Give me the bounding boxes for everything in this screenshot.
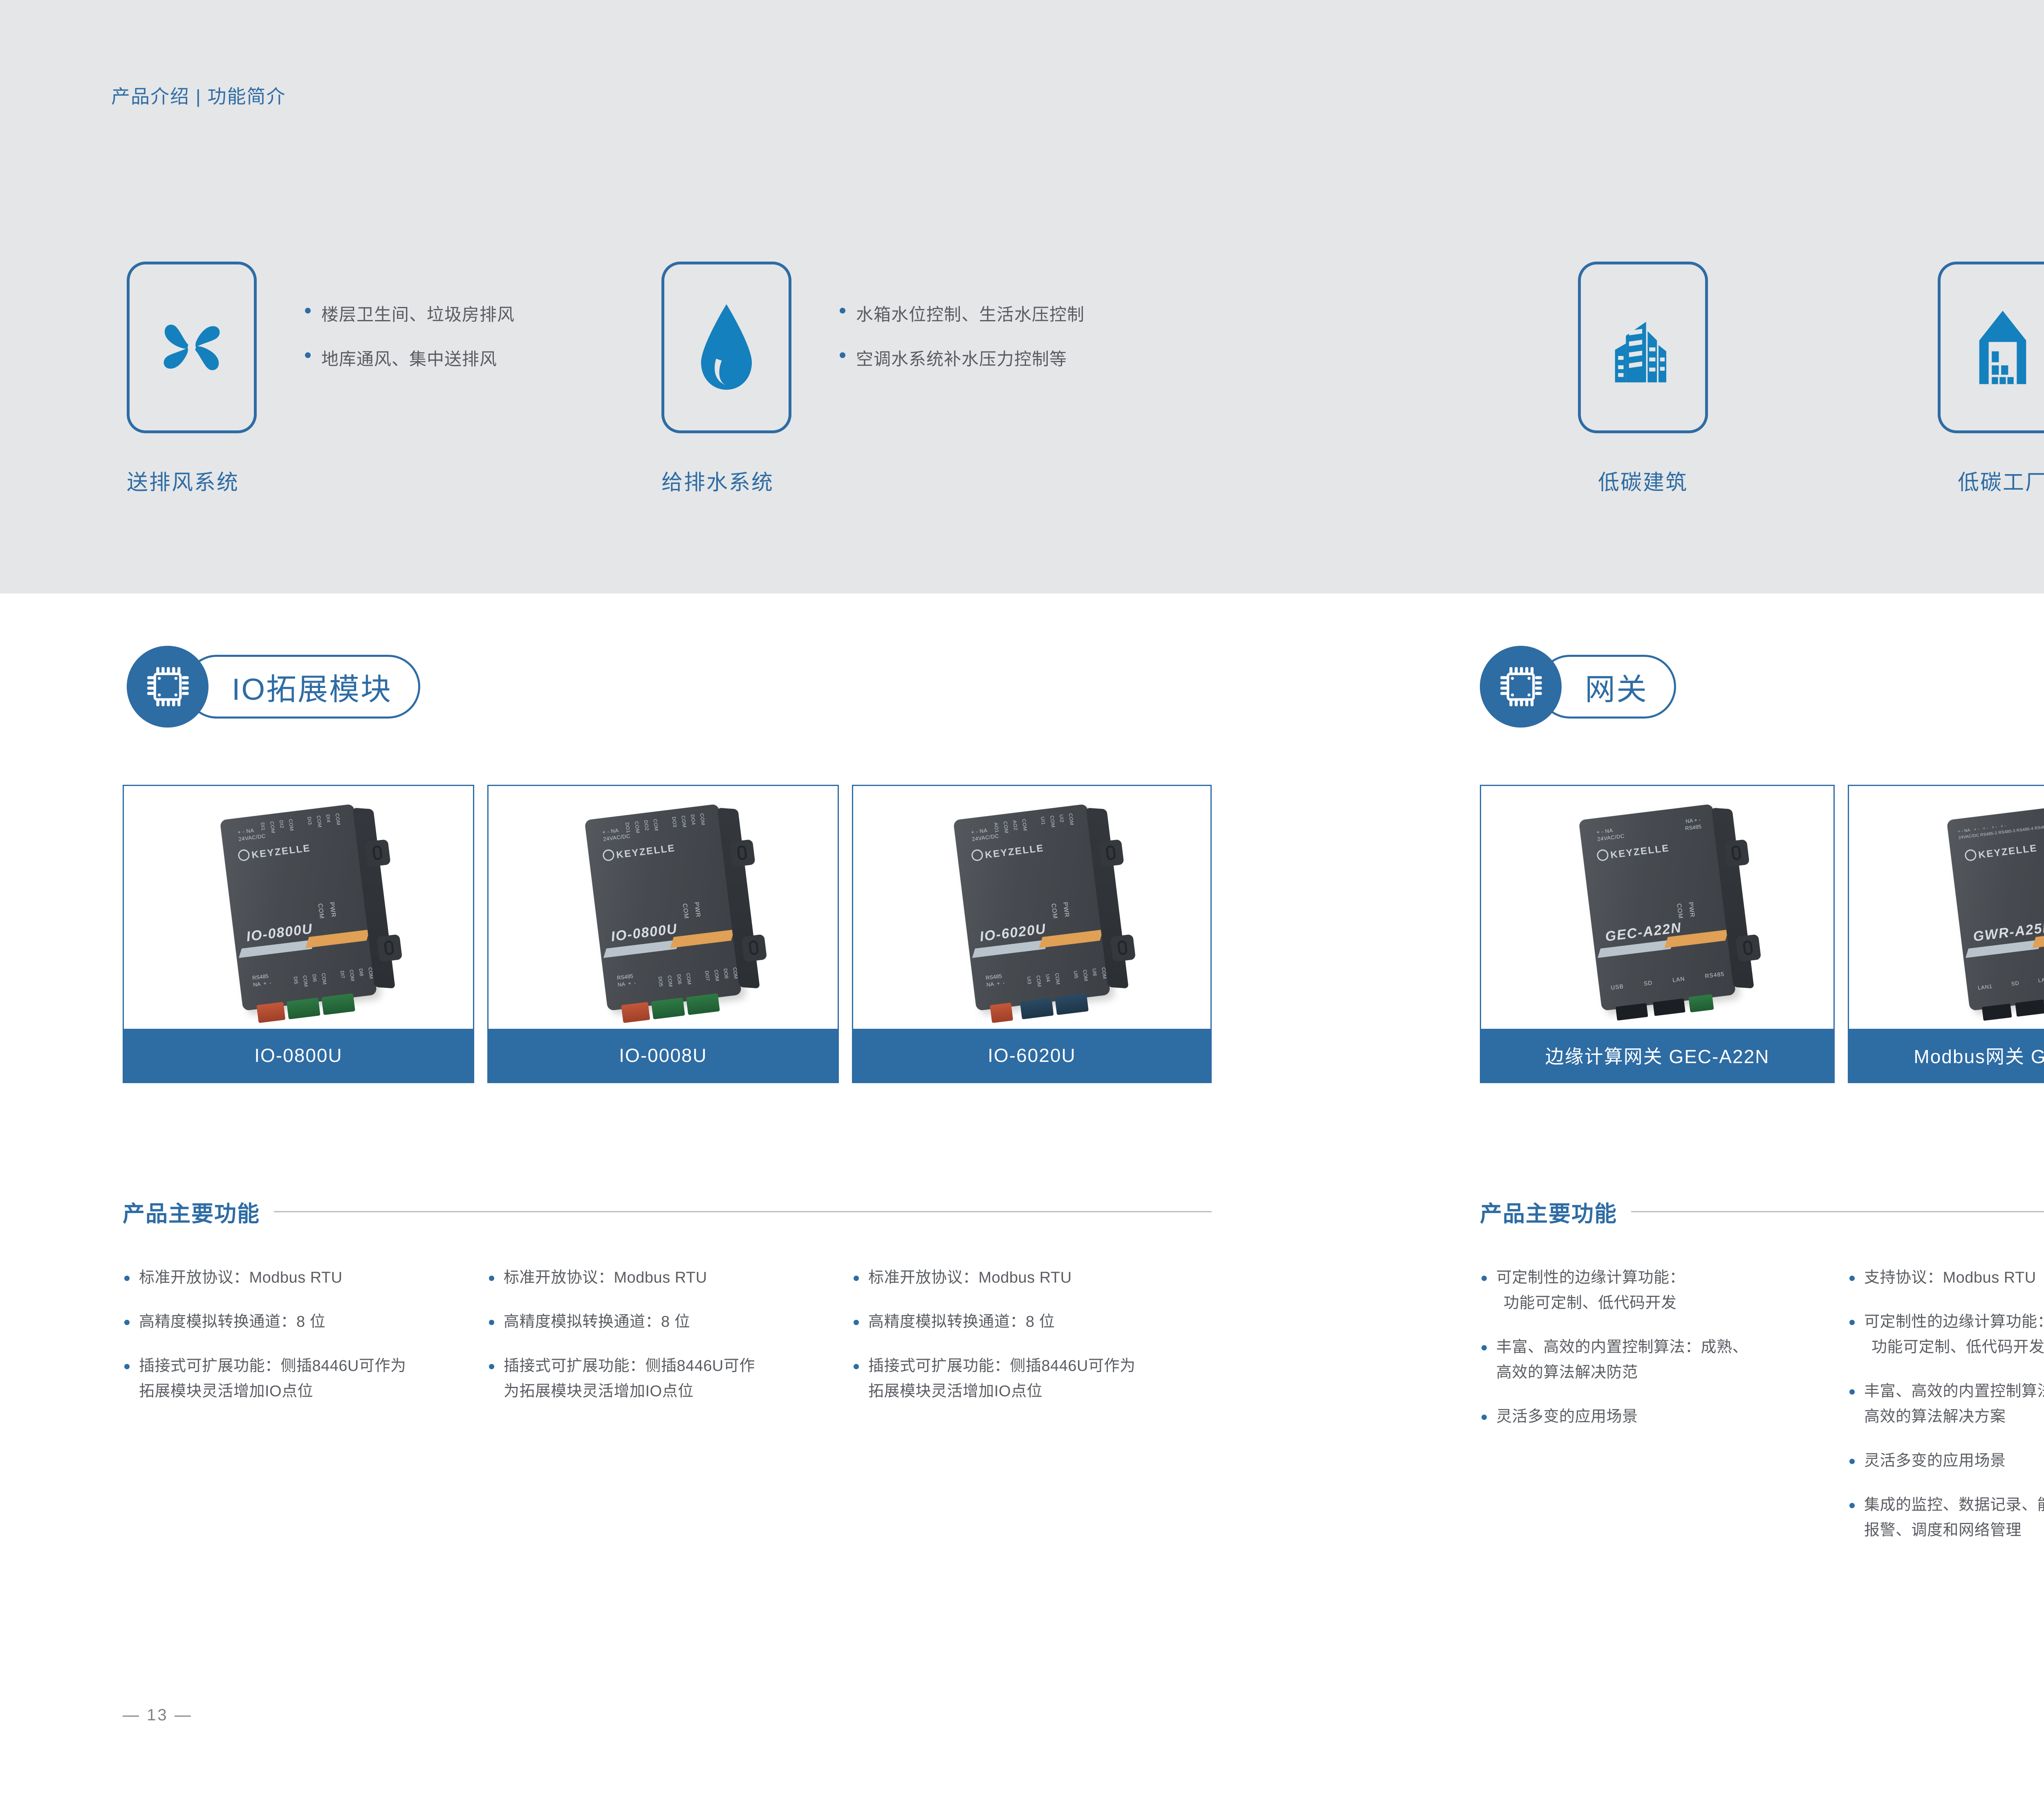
scenario-caption: 低碳工厂 <box>1938 465 2044 496</box>
feature-column: 标准开放协议：Modbus RTU 高精度模拟转换通道：8 位 插接式可扩展功能… <box>487 1265 847 1423</box>
feature-item: 丰富、高效的内置控制算法：成熟、高效的算法解决防范 <box>1480 1335 1831 1385</box>
feature-list: 标准开放协议：Modbus RTU 高精度模拟转换通道：8 位 插接式可扩展功能… <box>487 1265 847 1404</box>
product-photo: + - NA24VAC/DC DI1COMDI2COMDI3COMDI4COM … <box>124 786 473 1029</box>
device-brand: KEYZELLE <box>238 841 312 863</box>
feature-list: 标准开放协议：Modbus RTU 高精度模拟转换通道：8 位 插接式可扩展功能… <box>123 1265 482 1404</box>
feature-column: 支持协议：Modbus RTU 可定制性的边缘计算功能：功能可定制、低代码开发 … <box>1848 1265 2044 1562</box>
product-label: IO-6020U <box>853 1029 1210 1082</box>
device-top-text: + - NA + - + - + - + -24VAC/DC RS485-2 R… <box>1957 815 2044 841</box>
product-label: Modbus网关 GWR-A25N <box>1849 1029 2044 1082</box>
feature-item: 标准开放协议：Modbus RTU <box>487 1265 847 1290</box>
device-brand: KEYZELLE <box>1964 841 2038 863</box>
device-leds: COMPWR <box>2038 902 2044 922</box>
chip-icon-circle <box>1480 646 1562 728</box>
feature-item: 插接式可扩展功能：侧插8446U可作为拓展模块灵活增加IO点位 <box>487 1353 847 1404</box>
fan-icon-box <box>127 262 257 433</box>
bullet-item: 水箱水位控制、生活水压控制 <box>837 301 1085 326</box>
feature-item: 高精度模拟转换通道：8 位 <box>487 1309 847 1335</box>
application-caption: 给排水系统 <box>661 465 791 496</box>
feature-column: 标准开放协议：Modbus RTU 高精度模拟转换通道：8 位 插接式可扩展功能… <box>852 1265 1220 1423</box>
top-gray-band <box>0 0 2044 593</box>
fan-icon <box>151 307 233 388</box>
device-leds: COMPWR <box>1670 902 1696 922</box>
product-label: 边缘计算网关 GEC-A22N <box>1481 1029 1833 1082</box>
feature-column: 可定制性的边缘计算功能：功能可定制、低代码开发 丰富、高效的内置控制算法：成熟、… <box>1480 1265 1831 1448</box>
application-caption: 送排风系统 <box>127 465 257 496</box>
features-heading-right: 产品主要功能 <box>1480 1196 2044 1228</box>
office-building-icon-box <box>1578 262 1708 433</box>
feature-item: 集成的监控、数据记录、能耗计量、报警、调度和网络管理 <box>1848 1492 2044 1543</box>
feature-item: 高精度模拟转换通道：8 位 <box>123 1309 482 1335</box>
device-top-text: + - NA24VAC/DC <box>1596 826 1625 843</box>
feature-item: 丰富、高效的内置控制算法：成熟、高效的算法解决方案 <box>1848 1379 2044 1429</box>
heading-rule <box>274 1211 1212 1212</box>
bullet-item: 楼层卫生间、垃圾房排风 <box>303 301 515 326</box>
device-brand: KEYZELLE <box>602 841 676 863</box>
product-card[interactable]: + - NA24VAC/DC AO1COMAO2COMUI1COMUI2COM … <box>852 785 1212 1083</box>
device-top-pins: DO1COMDO2COMDO3COMDO4COM <box>624 813 706 835</box>
product-photo: + - NA24VAC/DC NA + -RS485 KEYZELLE COMP… <box>1481 786 1833 1029</box>
device-top-right-text: NA + -RS485 <box>1684 816 1702 832</box>
factory-icon <box>1970 305 2035 390</box>
feature-list: 标准开放协议：Modbus RTU 高精度模拟转换通道：8 位 插接式可扩展功能… <box>852 1265 1220 1404</box>
feature-item: 可定制性的边缘计算功能：功能可定制、低代码开发 <box>1480 1265 1831 1316</box>
product-card[interactable]: + - NA24VAC/DC DI1COMDI2COMDI3COMDI4COM … <box>123 785 474 1083</box>
features-title: 产品主要功能 <box>123 1196 260 1228</box>
application-ventilation: 送排风系统 楼层卫生间、垃圾房排风 地库通风、集中送排风 <box>127 262 257 496</box>
features-heading-left: 产品主要功能 <box>123 1196 1212 1228</box>
scenario-low-carbon-factory: 低碳工厂 <box>1938 262 2044 496</box>
feature-item: 标准开放协议：Modbus RTU <box>123 1265 482 1290</box>
feature-list: 支持协议：Modbus RTU 可定制性的边缘计算功能：功能可定制、低代码开发 … <box>1848 1265 2044 1543</box>
feature-item: 灵活多变的应用场景 <box>1848 1448 2044 1473</box>
device-top-pins: AO1COMAO2COMUI1COMUI2COM <box>993 813 1075 835</box>
product-label: IO-0008U <box>489 1029 838 1082</box>
product-card[interactable]: + - NA24VAC/DC NA + -RS485 KEYZELLE COMP… <box>1480 785 1835 1083</box>
device-bottom-ports: USBSDLANRS485 <box>1610 970 1725 991</box>
chip-icon <box>143 663 192 711</box>
device-bottom-text: RS485NA + - <box>252 972 271 988</box>
product-photo: + - NA24VAC/DC AO1COMAO2COMUI1COMUI2COM … <box>853 786 1210 1029</box>
running-head-left: 产品介绍 | 功能简介 <box>111 82 286 109</box>
product-photo: + - NA24VAC/DC DO1COMDO2COMDO3COMDO4COM … <box>489 786 838 1029</box>
device-top-pins: DI1COMDI2COMDI3COMDI4COM <box>260 813 341 835</box>
device-brand: KEYZELLE <box>971 841 1045 863</box>
device-illustration: + - NA24VAC/DC NA + -RS485 KEYZELLE COMP… <box>1579 804 1736 1011</box>
features-title: 产品主要功能 <box>1480 1196 1617 1228</box>
device-bottom-text: RS485NA + - <box>985 972 1005 988</box>
device-leds: COMPWR <box>1045 902 1071 922</box>
heading-rule <box>1631 1211 2044 1212</box>
application-water-supply: 给排水系统 水箱水位控制、生活水压控制 空调水系统补水压力控制等 <box>661 262 791 496</box>
feature-item: 可定制性的边缘计算功能：功能可定制、低代码开发 <box>1848 1309 2044 1360</box>
product-card[interactable]: + - NA + - + - + - + -24VAC/DC RS485-2 R… <box>1848 785 2044 1083</box>
bullet-item: 空调水系统补水压力控制等 <box>837 345 1085 370</box>
water-drop-icon-box <box>661 262 791 433</box>
water-bullets: 水箱水位控制、生活水压控制 空调水系统补水压力控制等 <box>837 301 1085 390</box>
device-illustration: + - NA24VAC/DC DO1COMDO2COMDO3COMDO4COM … <box>585 804 742 1011</box>
feature-item: 插接式可扩展功能：侧插8446U可作为拓展模块灵活增加IO点位 <box>852 1353 1220 1404</box>
water-drop-icon <box>692 300 761 394</box>
device-bottom-ports: LAN1SDLAN2RS485-1 <box>1977 971 2044 991</box>
feature-item: 高精度模拟转换通道：8 位 <box>852 1309 1220 1335</box>
product-card[interactable]: + - NA24VAC/DC DO1COMDO2COMDO3COMDO4COM … <box>487 785 839 1083</box>
section-badge-label: IO拓展模块 <box>232 665 392 709</box>
section-badge-label: 网关 <box>1585 665 1648 709</box>
feature-column: 标准开放协议：Modbus RTU 高精度模拟转换通道：8 位 插接式可扩展功能… <box>123 1265 482 1423</box>
device-bottom-pins: UI3COMUI4COMUI5COMUI6COM <box>1026 967 1108 988</box>
section-badge-pill: IO拓展模块 <box>185 655 420 719</box>
device-leds: COMPWR <box>676 902 702 922</box>
chip-icon <box>1497 663 1545 711</box>
feature-list: 可定制性的边缘计算功能：功能可定制、低代码开发 丰富、高效的内置控制算法：成熟、… <box>1480 1265 1831 1429</box>
office-building-icon <box>1604 305 1682 390</box>
page-number-left: — 13 — <box>123 1706 193 1724</box>
device-bottom-pins: DO5COMDO6COMDO7COMDO8COM <box>657 967 739 988</box>
device-illustration: + - NA24VAC/DC DI1COMDI2COMDI3COMDI4COM … <box>220 804 377 1011</box>
chip-icon-circle <box>127 646 208 728</box>
factory-icon-box <box>1938 262 2044 433</box>
product-label: IO-0800U <box>124 1029 473 1082</box>
scenario-low-carbon-building: 低碳建筑 <box>1578 262 1708 496</box>
scenario-caption: 低碳建筑 <box>1578 465 1708 496</box>
bullet-item: 地库通风、集中送排风 <box>303 345 515 370</box>
brochure-page: 产品介绍 | 功能简介 产品介绍 | 功能简介 送排风系统 楼层卫生间、垃圾房排… <box>0 0 2044 1798</box>
feature-item: 支持协议：Modbus RTU <box>1848 1265 2044 1290</box>
device-bottom-pins: DI5COMDI6COMDI7COMDI8COM <box>293 967 374 988</box>
device-illustration: + - NA + - + - + - + -24VAC/DC RS485-2 R… <box>1947 804 2044 1011</box>
ventilation-bullets: 楼层卫生间、垃圾房排风 地库通风、集中送排风 <box>303 301 515 390</box>
device-bottom-text: RS485NA + - <box>616 972 636 988</box>
feature-item: 标准开放协议：Modbus RTU <box>852 1265 1220 1290</box>
device-brand: KEYZELLE <box>1596 841 1670 863</box>
feature-item: 插接式可扩展功能：侧插8446U可作为拓展模块灵活增加IO点位 <box>123 1353 482 1404</box>
feature-item: 灵活多变的应用场景 <box>1480 1404 1831 1429</box>
device-leds: COMPWR <box>312 902 337 922</box>
device-illustration: + - NA24VAC/DC AO1COMAO2COMUI1COMUI2COM … <box>953 804 1111 1011</box>
product-photo: + - NA + - + - + - + -24VAC/DC RS485-2 R… <box>1849 786 2044 1029</box>
